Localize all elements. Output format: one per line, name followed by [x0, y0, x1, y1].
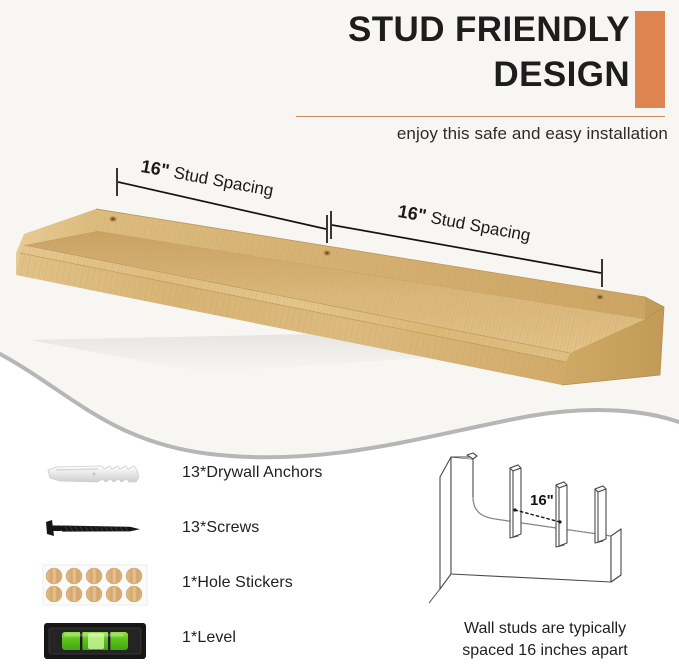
wall-diagram-caption: Wall studs are typically spaced 16 inche… — [420, 618, 670, 662]
stud-wall-diagram: 16" — [425, 437, 675, 609]
hole-stickers-icon — [40, 562, 162, 608]
headline-line-2: DESIGN — [300, 53, 630, 98]
caption-line-2: spaced 16 inches apart — [420, 640, 670, 662]
list-item: 1*Level — [40, 617, 360, 667]
dimension-value-left: 16" — [139, 156, 171, 181]
screw-hole — [109, 216, 116, 222]
list-item: 1*Hole Stickers — [40, 562, 360, 617]
stud-measure-label: 16" — [530, 492, 554, 509]
drywall-anchor-icon — [40, 452, 162, 498]
screw-icon — [40, 507, 162, 553]
level-icon — [40, 617, 162, 663]
list-item: 13*Drywall Anchors — [40, 452, 360, 507]
list-item-label: 1*Hole Stickers — [182, 574, 293, 592]
parts-list: 13*Drywall Anchors — [40, 452, 360, 667]
screw-hole — [323, 250, 330, 256]
subtitle: enjoy this safe and easy installation — [280, 124, 668, 144]
dimension-value-right: 16" — [396, 201, 428, 226]
accent-bar — [635, 11, 665, 108]
screw-hole — [596, 294, 603, 300]
list-item-label: 13*Drywall Anchors — [182, 464, 323, 482]
list-item: 13*Screws — [40, 507, 360, 562]
list-item-label: 13*Screws — [182, 519, 259, 537]
headline-line-1: STUD FRIENDLY — [300, 8, 630, 53]
page-title: STUD FRIENDLY DESIGN — [300, 8, 630, 98]
divider-rule — [296, 116, 665, 117]
caption-line-1: Wall studs are typically — [420, 618, 670, 640]
infographic-canvas: STUD FRIENDLY DESIGN enjoy this safe and… — [0, 0, 679, 667]
list-item-label: 1*Level — [182, 629, 236, 647]
